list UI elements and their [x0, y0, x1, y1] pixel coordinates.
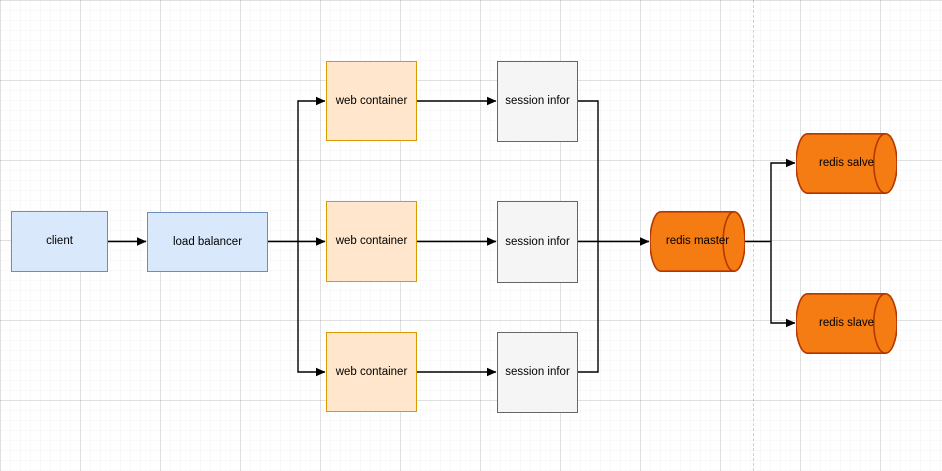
node-redis-master-label: redis master	[666, 235, 729, 248]
node-client-label: client	[46, 235, 73, 248]
edge-redis-master-to-redis-salve	[771, 163, 795, 242]
node-redis-slave-label: redis slave	[819, 317, 874, 330]
node-load-balancer-label: load balancer	[173, 236, 242, 249]
node-redis-slave[interactable]: redis slave	[796, 293, 897, 354]
node-session-infor-top-label: session infor	[505, 95, 570, 108]
node-session-infor-bottom[interactable]: session infor	[497, 332, 578, 413]
edge-load-balancer-to-web-container-top	[298, 101, 325, 242]
node-client[interactable]: client	[11, 211, 108, 272]
diagram-canvas: client load balancer web container web c…	[0, 0, 942, 471]
node-load-balancer[interactable]: load balancer	[147, 212, 268, 272]
edge-session-infor-top-to-bus	[578, 101, 598, 242]
node-redis-master[interactable]: redis master	[650, 211, 745, 272]
node-web-container-bottom-label: web container	[336, 366, 408, 379]
node-redis-salve[interactable]: redis salve	[796, 133, 897, 194]
edge-redis-master-to-redis-slave	[771, 242, 795, 324]
node-session-infor-middle-label: session infor	[505, 236, 570, 249]
connector-layer	[0, 0, 942, 471]
node-web-container-middle-label: web container	[336, 235, 408, 248]
node-web-container-bottom[interactable]: web container	[326, 332, 417, 412]
node-web-container-middle[interactable]: web container	[326, 201, 417, 282]
edge-session-infor-bottom-to-bus	[578, 242, 598, 373]
edge-load-balancer-to-web-container-bottom	[298, 242, 325, 373]
node-session-infor-bottom-label: session infor	[505, 366, 570, 379]
node-session-infor-top[interactable]: session infor	[497, 61, 578, 142]
node-session-infor-middle[interactable]: session infor	[497, 201, 578, 283]
page-break-line	[753, 0, 754, 471]
node-redis-salve-label: redis salve	[819, 157, 874, 170]
node-web-container-top[interactable]: web container	[326, 61, 417, 141]
node-web-container-top-label: web container	[336, 95, 408, 108]
